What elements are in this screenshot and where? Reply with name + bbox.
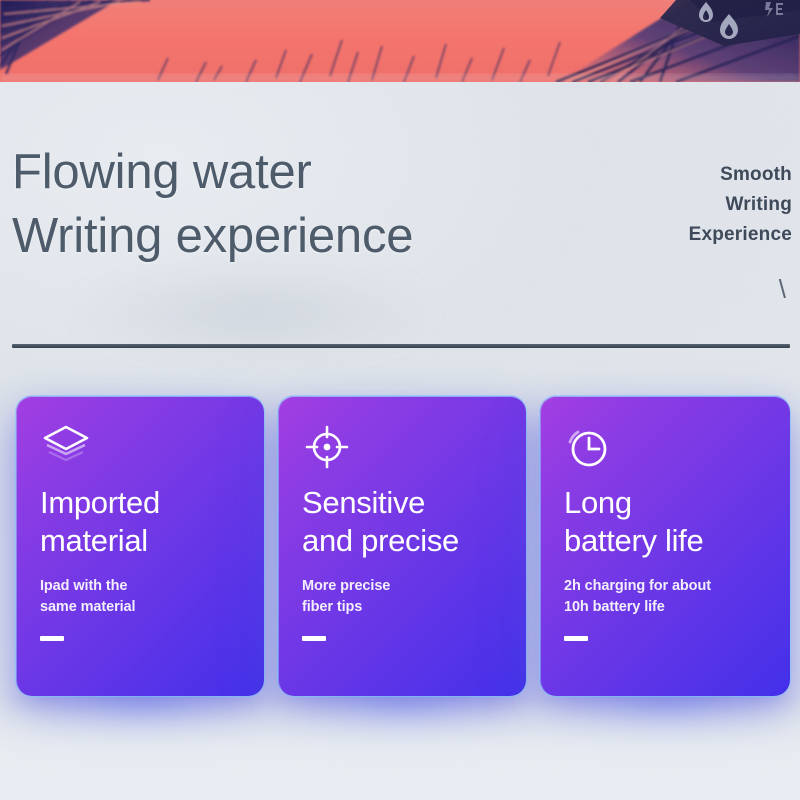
kicker-line-1: Smooth [689,160,792,190]
card-title-line-2: and precise [302,522,504,560]
card-subtitle-line-1: Ipad with the [40,576,242,597]
card-subtitle-line-1: More precise [302,576,504,597]
hero-band-graphic [0,0,800,82]
crosshair-icon [302,424,504,470]
card-subtitle: Ipad with the same material [40,576,242,618]
card-subtitle-line-2: 10h battery life [564,597,768,618]
headline-line-2: Writing experience [12,204,413,268]
card-subtitle-line-2: fiber tips [302,597,504,618]
page-title: Flowing water Writing experience [12,140,413,268]
product-feature-banner: Flowing water Writing experience Smooth … [0,0,800,800]
card-title-line-1: Imported [40,484,242,522]
card-title-line-1: Sensitive [302,484,504,522]
feature-card-sensitive-and-precise[interactable]: Sensitive and precise More precise fiber… [278,396,526,696]
card-dash-marker [40,636,64,641]
clock-icon [564,424,768,470]
feature-card-imported-material[interactable]: Imported material Ipad with the same mat… [16,396,264,696]
card-title-line-2: material [40,522,242,560]
card-title-line-2: battery life [564,522,768,560]
card-subtitle: More precise fiber tips [302,576,504,618]
kicker-text: Smooth Writing Experience [689,160,792,250]
card-dash-marker [564,636,588,641]
card-title: Sensitive and precise [302,484,504,560]
card-dash-marker [302,636,326,641]
card-title: Imported material [40,484,242,560]
hero-photo-band [0,0,800,82]
card-subtitle: 2h charging for about 10h battery life [564,576,768,618]
feature-card-list: Imported material Ipad with the same mat… [0,396,800,698]
background-blur-artifact [60,252,490,372]
card-title: Long battery life [564,484,768,560]
layers-icon [40,424,242,470]
feature-card-long-battery-life[interactable]: Long battery life 2h charging for about … [540,396,790,696]
headline-line-1: Flowing water [12,140,413,204]
card-subtitle-line-1: 2h charging for about [564,576,768,597]
horizontal-divider [12,344,790,348]
card-subtitle-line-2: same material [40,597,242,618]
kicker-line-2: Writing [689,190,792,220]
card-title-line-1: Long [564,484,768,522]
kicker-line-3: Experience [689,220,792,250]
slash-mark: \ [779,276,786,302]
